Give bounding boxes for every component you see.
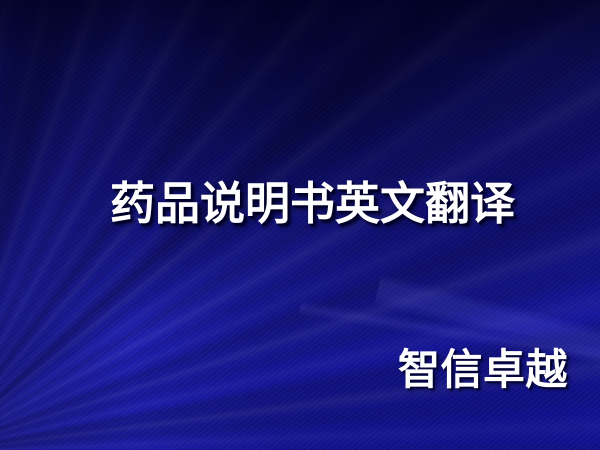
- slide-title: 药品说明书英文翻译: [110, 181, 515, 226]
- presentation-slide: 药品说明书英文翻译 智信卓越: [0, 0, 600, 450]
- slide-subtitle: 智信卓越: [398, 349, 568, 391]
